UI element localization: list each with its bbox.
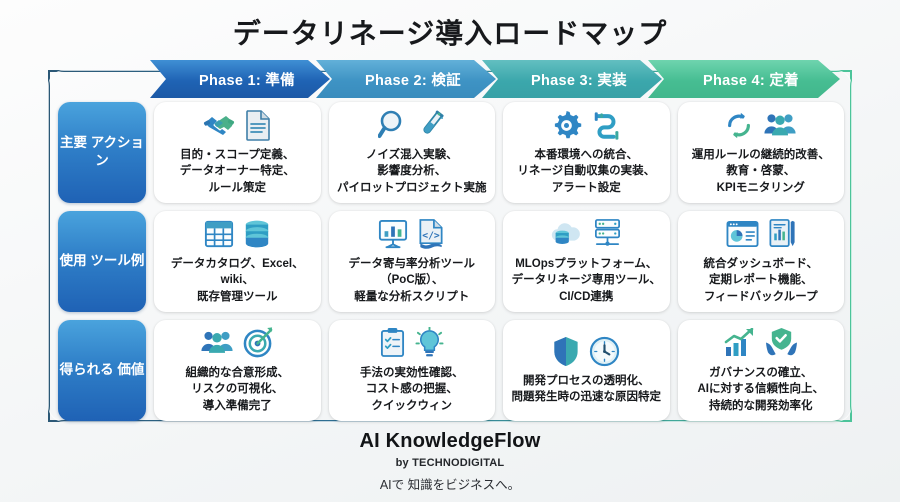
cell-r1c2[interactable]: ノイズ混入実験、 影響度分析、 パイロットプロジェクト実施: [329, 102, 496, 203]
cell-r3c2[interactable]: 手法の実効性確認、 コスト感の把握、 クイックウィン: [329, 320, 496, 421]
phase-label: Phase 2: 検証: [365, 69, 461, 90]
phase-arrow-3[interactable]: Phase 3: 実装: [482, 60, 662, 98]
cell-icon-group: [204, 217, 271, 251]
dashboard-window-icon: [726, 220, 759, 248]
phase-arrow-4[interactable]: Phase 4: 定着: [648, 60, 840, 98]
cell-icon-group: [549, 217, 623, 251]
cell-text: 目的・スコープ定義、 データオーナー特定、 ルール策定: [180, 147, 295, 196]
phase-label: Phase 1: 準備: [199, 69, 295, 90]
clock-icon: [589, 336, 620, 367]
matrix-row: 主要 アクション: [58, 102, 844, 203]
chart-board-icon: [378, 219, 408, 249]
cell-text: データカタログ、Excel、 wiki、 既存管理ツール: [171, 256, 304, 305]
cell-r1c4[interactable]: 運用ルールの継続的改善、 教育・啓蒙、 KPIモニタリング: [678, 102, 845, 203]
cell-text: ガバナンスの確立、 AIに対する信頼性向上、 持続的な開発効率化: [698, 365, 825, 414]
cell-text: 組織的な合意形成、 リスクの可視化、 導入準備完了: [186, 365, 290, 414]
row-label-tools: 使用 ツール例: [58, 211, 146, 312]
people-group-icon: [763, 110, 797, 140]
cell-r2c4[interactable]: 統合ダッシュボード、 定期レポート機能、 フィードバックループ: [678, 211, 845, 312]
report-pen-icon: [768, 218, 796, 249]
server-rack-icon: [592, 218, 623, 249]
cell-text: 統合ダッシュボード、 定期レポート機能、 フィードバックループ: [703, 256, 818, 305]
cell-r2c3[interactable]: MLOpsプラットフォーム、 データリネージ専用ツール、 CI/CD連携: [503, 211, 670, 312]
cell-icon-group: [200, 326, 274, 360]
row-label-main-actions: 主要 アクション: [58, 102, 146, 203]
shield-icon: [552, 336, 580, 367]
cell-r2c2[interactable]: </> データ寄与率分析ツール （PoC版）、 軽量な分析スクリプト: [329, 211, 496, 312]
clipboard-check-icon: [379, 327, 406, 358]
phase-label: Phase 4: 定着: [703, 69, 799, 90]
cell-icon-group: [379, 326, 444, 360]
magnifier-icon: [378, 109, 408, 141]
cell-icon-group: [726, 217, 796, 251]
cell-text: 本番環境への統合、 リネージ自動収集の実装、 アラート設定: [517, 147, 655, 196]
cell-text: MLOpsプラットフォーム、 データリネージ専用ツール、 CI/CD連携: [512, 256, 661, 305]
people-group-icon: [200, 328, 234, 357]
brand-byline: by TECHNODIGITAL: [0, 457, 900, 469]
cell-text: 開発プロセスの透明化、 問題発生時の迅速な原因特定: [512, 373, 662, 406]
brand-tagline: AIで 知識をビジネスへ。: [0, 474, 900, 493]
lightbulb-icon: [415, 327, 444, 358]
document-icon: [244, 109, 272, 141]
table-grid-icon: [204, 219, 234, 249]
cell-r1c1[interactable]: 目的・スコープ定義、 データオーナー特定、 ルール策定: [154, 102, 321, 203]
page-title: データリネージ導入ロードマップ: [0, 12, 900, 52]
cell-icon-group: [203, 108, 272, 142]
pipeline-icon: [591, 110, 621, 141]
cell-icon-group: </>: [378, 217, 445, 251]
phase-label: Phase 3: 実装: [531, 69, 627, 90]
phase-arrow-2[interactable]: Phase 2: 検証: [316, 60, 496, 98]
brand-name: AI KnowledgeFlow: [0, 430, 900, 453]
growth-chart-icon: [724, 328, 756, 358]
test-tube-icon: [417, 109, 445, 141]
hands-shield-icon: [765, 327, 798, 358]
matrix-row: 得られる 価値: [58, 320, 844, 421]
cell-r3c3[interactable]: 開発プロセスの透明化、 問題発生時の迅速な原因特定: [503, 320, 670, 421]
cloud-database-icon: [549, 219, 583, 249]
cycle-arrows-icon: [724, 110, 754, 141]
cell-icon-group: [551, 108, 621, 142]
gear-icon: [551, 110, 582, 141]
target-icon: [243, 327, 274, 358]
cell-text: ノイズ混入実験、 影響度分析、 パイロットプロジェクト実施: [337, 147, 487, 196]
roadmap-infographic: データリネージ導入ロードマップ Phase 1: 準備 Phase 2: 検証 …: [0, 0, 900, 502]
database-icon: [243, 219, 271, 249]
code-file-icon: </>: [417, 218, 445, 249]
cell-r3c4[interactable]: ガバナンスの確立、 AIに対する信頼性向上、 持続的な開発効率化: [678, 320, 845, 421]
phase-arrow-band: Phase 1: 準備 Phase 2: 検証 Phase 3: 実装 Phas…: [150, 60, 868, 98]
handshake-icon: [203, 109, 235, 141]
cell-icon-group: [552, 334, 620, 368]
matrix-grid: 主要 アクション: [58, 102, 844, 414]
cell-r1c3[interactable]: 本番環境への統合、 リネージ自動収集の実装、 アラート設定: [503, 102, 670, 203]
cell-icon-group: [724, 108, 797, 142]
cell-text: 運用ルールの継続的改善、 教育・啓蒙、 KPIモニタリング: [692, 147, 830, 196]
row-label-value: 得られる 価値: [58, 320, 146, 421]
cell-icon-group: [378, 108, 445, 142]
cell-r3c1[interactable]: 組織的な合意形成、 リスクの可視化、 導入準備完了: [154, 320, 321, 421]
cell-text: データ寄与率分析ツール （PoC版）、 軽量な分析スクリプト: [349, 256, 476, 305]
matrix-row: 使用 ツール例: [58, 211, 844, 312]
svg-text:</>: </>: [423, 231, 441, 242]
cell-r2c1[interactable]: データカタログ、Excel、 wiki、 既存管理ツール: [154, 211, 321, 312]
cell-text: 手法の実効性確認、 コスト感の把握、 クイックウィン: [360, 365, 464, 414]
cell-icon-group: [724, 326, 798, 360]
phase-arrow-1[interactable]: Phase 1: 準備: [150, 60, 330, 98]
footer: AI KnowledgeFlow by TECHNODIGITAL AIで 知識…: [0, 430, 900, 493]
